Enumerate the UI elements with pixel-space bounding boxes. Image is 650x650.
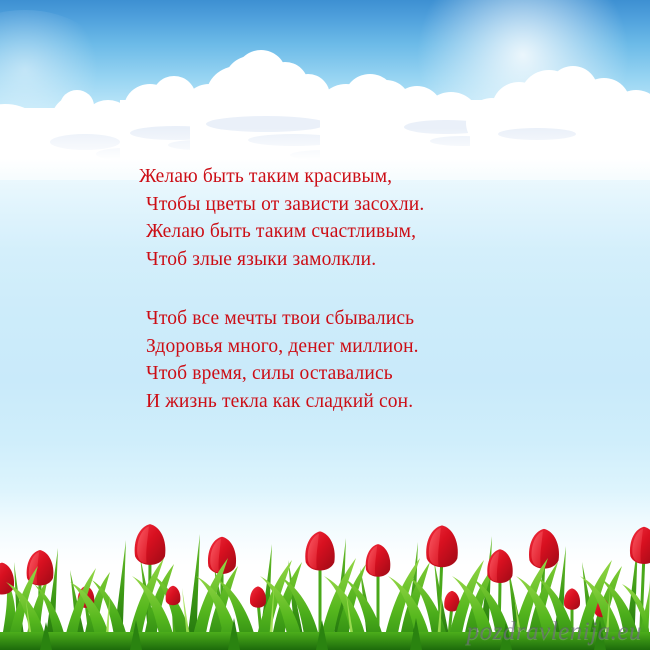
sky-clouds bbox=[0, 0, 650, 180]
poem-line: Чтоб все мечты твои сбывались bbox=[0, 305, 650, 333]
poem-stanza-2: Чтоб все мечты твои сбывались Здоровья м… bbox=[0, 305, 650, 415]
tulip bbox=[0, 563, 14, 595]
tulip bbox=[366, 544, 391, 577]
tulip bbox=[250, 586, 266, 607]
tulip bbox=[564, 588, 580, 609]
tulip bbox=[135, 524, 166, 565]
poem-line: Чтоб злые языки замолкли. bbox=[0, 246, 650, 274]
poem-line: Здоровья много, денег миллион. bbox=[0, 333, 650, 361]
poem-line: И жизнь текла как сладкий сон. bbox=[0, 388, 650, 416]
tulip bbox=[166, 586, 181, 606]
poem-line: Желаю быть таким счастливым, bbox=[0, 218, 650, 246]
poem-stanza-1: Желаю быть таким красивым, Чтобы цветы о… bbox=[0, 163, 650, 273]
tulip bbox=[426, 525, 458, 567]
greeting-card: Желаю быть таким красивым, Чтобы цветы о… bbox=[0, 0, 650, 650]
poem-line: Чтобы цветы от зависти засохли. bbox=[0, 191, 650, 219]
poem: Желаю быть таким красивым, Чтобы цветы о… bbox=[0, 163, 650, 415]
poem-line: Желаю быть таким красивым, bbox=[0, 163, 650, 191]
watermark: pozdravlenija.eu bbox=[467, 618, 642, 646]
tulip bbox=[529, 529, 559, 569]
poem-line: Чтоб время, силы оставались bbox=[0, 360, 650, 388]
tulip bbox=[305, 531, 334, 570]
tulip bbox=[630, 527, 650, 564]
